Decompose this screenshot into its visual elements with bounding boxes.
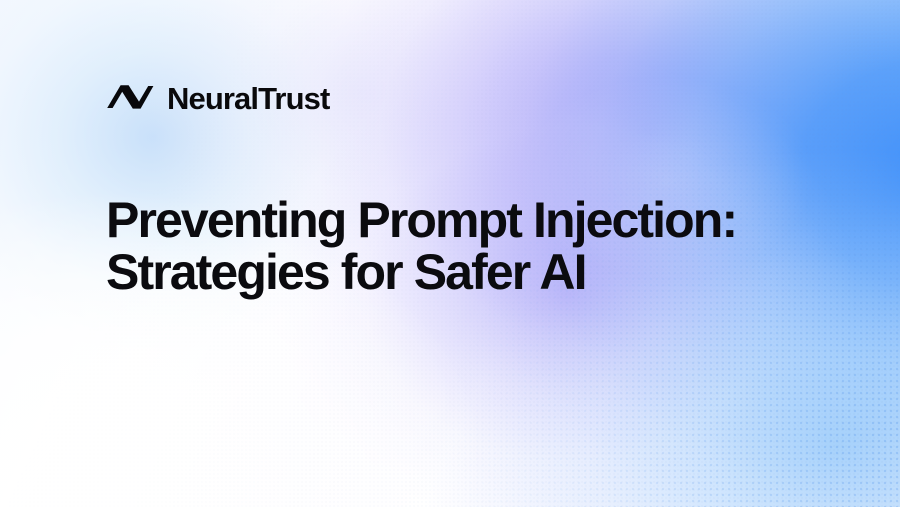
hero-banner: NeuralTrust Preventing Prompt Injection:… xyxy=(0,0,900,507)
page-title: Preventing Prompt Injection: Strategies … xyxy=(106,194,736,298)
hero-content: NeuralTrust Preventing Prompt Injection:… xyxy=(0,0,900,507)
page-title-line-2: Strategies for Safer AI xyxy=(106,246,736,298)
neuraltrust-logo-icon xyxy=(106,84,154,114)
brand-name: NeuralTrust xyxy=(167,83,329,114)
page-title-line-1: Preventing Prompt Injection: xyxy=(106,194,736,246)
brand-lockup: NeuralTrust xyxy=(106,83,329,114)
